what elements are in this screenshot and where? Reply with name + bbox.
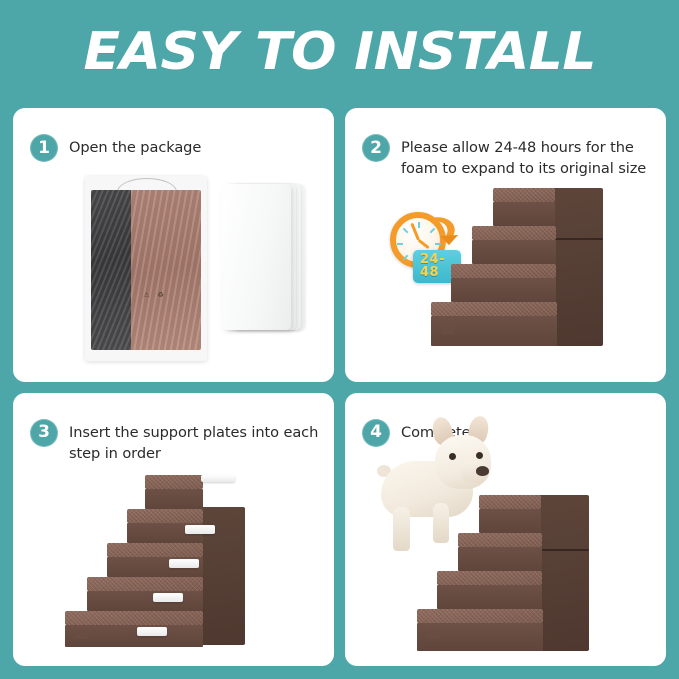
- clock-hour-hand: [417, 239, 429, 249]
- package-brown-foam: ⚠ ♻: [131, 190, 201, 350]
- stairs-seam: [535, 549, 589, 551]
- brand-logo-tag: [75, 631, 88, 639]
- stair-tread-1: [431, 302, 557, 316]
- stair-tread-4: [479, 495, 541, 509]
- sealed-package-icon: ⚠ ♻: [85, 176, 207, 361]
- stair-tread-5: [145, 475, 203, 489]
- stair-riser-2: [437, 585, 542, 609]
- brand-logo-tag: [441, 326, 454, 334]
- stair-tread-2: [87, 577, 203, 591]
- step-1-artwork: ⚠ ♻: [13, 108, 334, 382]
- stairs-seam: [549, 238, 603, 240]
- stair-tread-2: [451, 264, 556, 278]
- support-plate-inserted-5: [201, 475, 235, 482]
- stair-riser-4: [493, 202, 555, 226]
- stair-tread-4: [127, 509, 203, 523]
- title-bar: EASY TO INSTALL: [0, 0, 679, 103]
- step-card-2: 2 Please allow 24-48 hours for the foam …: [345, 108, 666, 382]
- steps-grid: 1 Open the package ⚠ ♻: [13, 108, 666, 666]
- clock-tick: [397, 243, 403, 245]
- support-plate: [221, 184, 291, 330]
- stair-riser-3: [472, 240, 556, 264]
- stair-tread-4: [493, 188, 555, 202]
- package-print-marks: ⚠ ♻: [143, 291, 167, 299]
- pet-stairs-with-plates-icon: [57, 473, 287, 651]
- stairs-side-panel: [549, 188, 603, 346]
- support-plate-inserted-4: [185, 525, 215, 534]
- package-dark-foam: [91, 190, 131, 350]
- support-plate-inserted-2: [153, 593, 183, 602]
- step-3-artwork: [13, 393, 334, 667]
- pet-stairs-icon: [431, 166, 639, 356]
- stair-tread-3: [472, 226, 556, 240]
- step-card-1: 1 Open the package ⚠ ♻: [13, 108, 334, 382]
- brand-logo-tag: [427, 631, 440, 639]
- step-4-artwork: [345, 393, 666, 667]
- stair-tread-2: [437, 571, 542, 585]
- support-plate-inserted-1: [137, 627, 167, 636]
- stair-riser-2: [87, 591, 203, 611]
- dog-eye-left: [449, 453, 456, 460]
- support-plates-stack-icon: [221, 184, 305, 330]
- support-plate-inserted-3: [169, 559, 199, 568]
- stair-tread-1: [65, 611, 203, 625]
- clock-tick: [403, 228, 409, 234]
- page-title: EASY TO INSTALL: [83, 26, 595, 78]
- stair-riser-2: [451, 278, 556, 302]
- stair-riser-4: [479, 509, 541, 533]
- step-2-artwork: 24-48: [345, 108, 666, 382]
- step-card-3: 3 Insert the support plates into each st…: [13, 393, 334, 667]
- pet-stairs-icon: [417, 473, 637, 659]
- dog-eye-right: [476, 452, 483, 459]
- stair-riser-5: [145, 489, 203, 509]
- stairs-side-panel: [535, 495, 589, 651]
- stair-tread-1: [417, 609, 543, 623]
- clock-tick: [403, 255, 409, 261]
- dog-hind-leg: [393, 507, 410, 551]
- step-card-4: 4 Complete: [345, 393, 666, 667]
- poster-root: EASY TO INSTALL 1 Open the package ⚠ ♻: [0, 0, 679, 679]
- stair-tread-3: [458, 533, 542, 547]
- package-contents: ⚠ ♻: [91, 190, 201, 350]
- stair-riser-3: [458, 547, 542, 571]
- stair-tread-3: [107, 543, 203, 557]
- clock-tick: [418, 222, 420, 228]
